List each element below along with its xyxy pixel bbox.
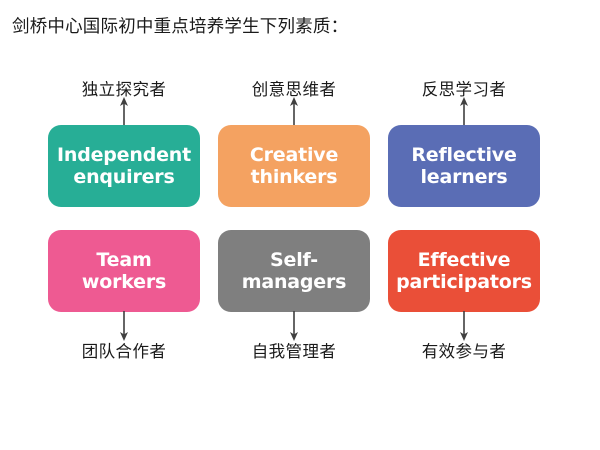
arrow-down-icon-self-managers: [287, 311, 301, 341]
qualities-grid: 独立探究者 创意思维者 反思学习者 Independent enquirers: [0, 0, 600, 450]
caption-self-managers: 自我管理者: [218, 338, 370, 362]
card-label-effective-participators: Effective participators: [396, 249, 532, 294]
card-creative-thinkers[interactable]: Creative thinkers: [218, 125, 370, 207]
arrow-down-icon-effective-participators: [457, 311, 471, 341]
slide-canvas: 剑桥中心国际初中重点培养学生下列素质： 独立探究者 创意思维者 反思学习者: [0, 0, 600, 450]
card-label-independent-enquirers: Independent enquirers: [57, 144, 191, 189]
card-effective-participators[interactable]: Effective participators: [388, 230, 540, 312]
card-independent-enquirers[interactable]: Independent enquirers: [48, 125, 200, 207]
card-reflective-learners[interactable]: Reflective learners: [388, 125, 540, 207]
card-team-workers[interactable]: Team workers: [48, 230, 200, 312]
card-label-reflective-learners: Reflective learners: [411, 144, 516, 189]
arrow-down-icon-team-workers: [117, 311, 131, 341]
caption-effective-participators: 有效参与者: [388, 338, 540, 362]
card-label-creative-thinkers: Creative thinkers: [250, 144, 338, 189]
card-self-managers[interactable]: Self- managers: [218, 230, 370, 312]
arrow-up-icon-independent-enquirers: [117, 97, 131, 127]
arrow-up-icon-reflective-learners: [457, 97, 471, 127]
card-label-team-workers: Team workers: [82, 249, 166, 294]
arrow-up-icon-creative-thinkers: [287, 97, 301, 127]
card-label-self-managers: Self- managers: [242, 249, 347, 294]
caption-team-workers: 团队合作者: [48, 338, 200, 362]
